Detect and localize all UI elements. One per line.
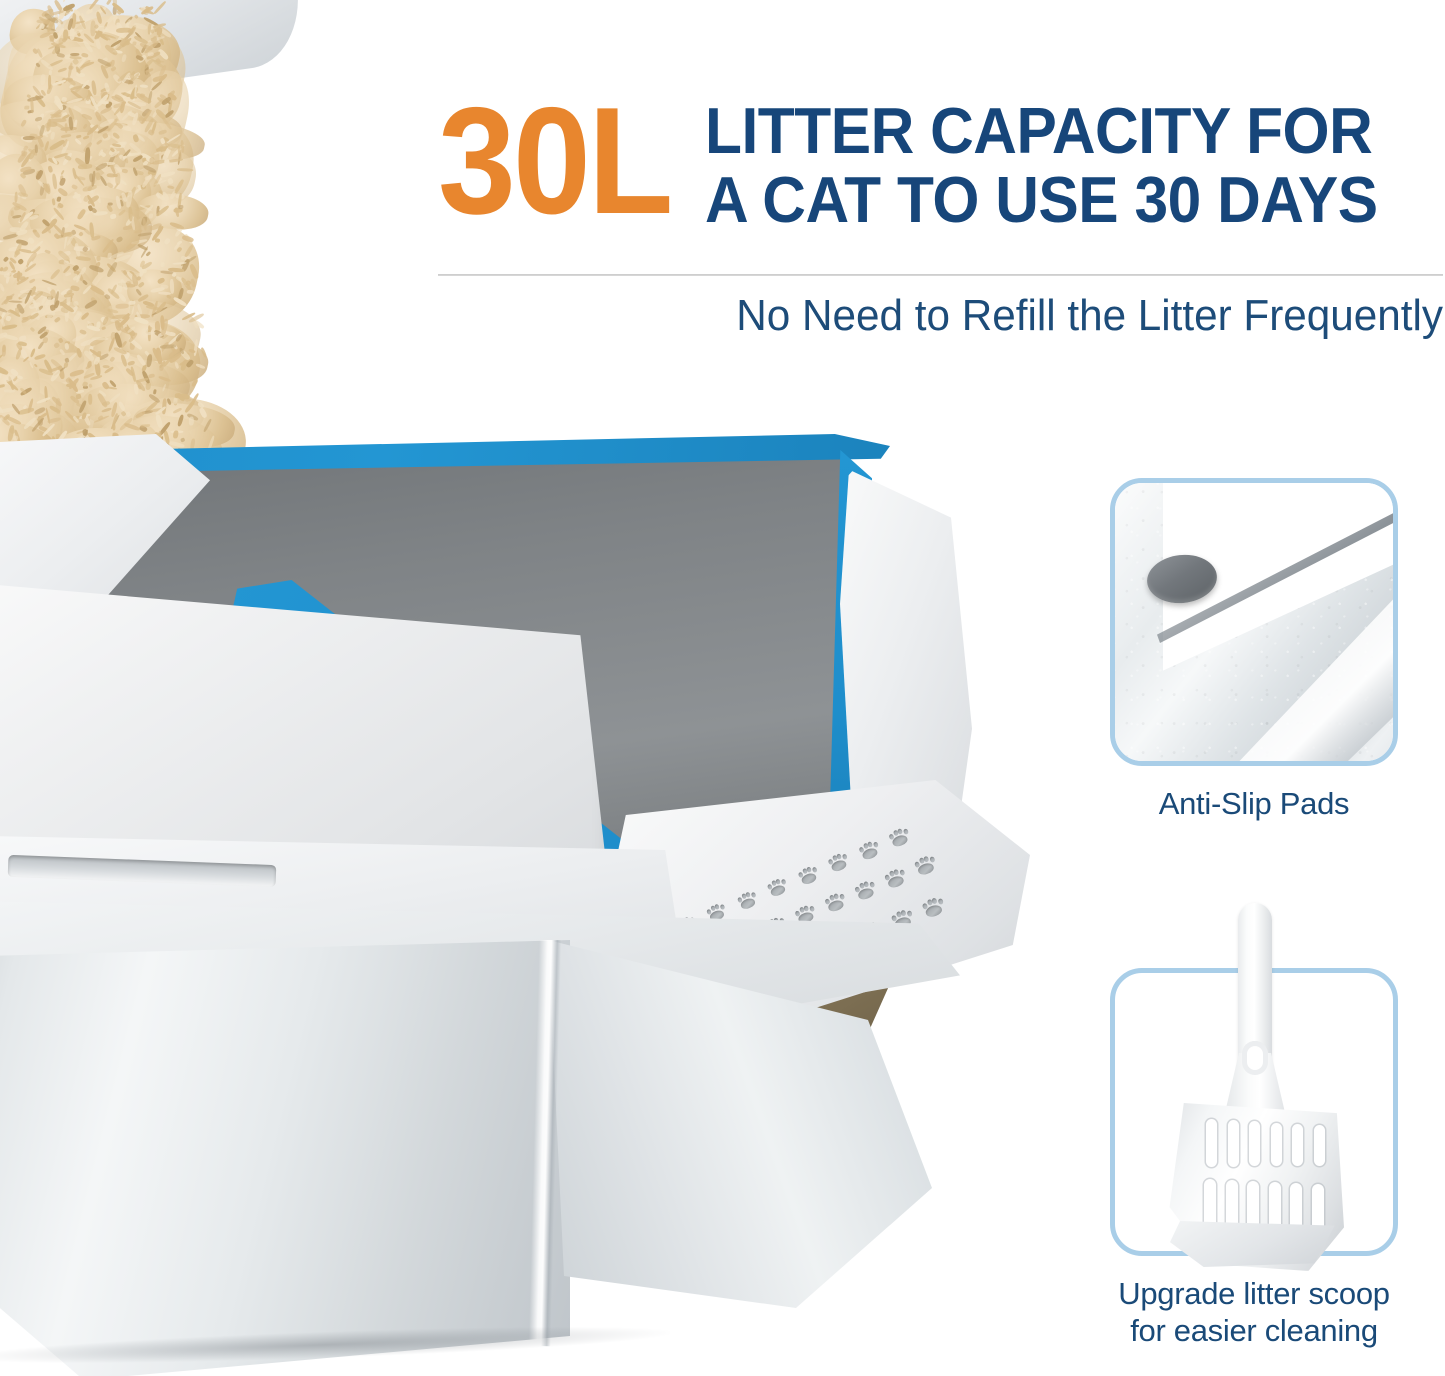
paw-toe [839,894,845,900]
litter-pellet [161,261,165,266]
callout-frame-anti-slip-pads [1110,478,1398,766]
callout-label-line-2: for easier cleaning [1110,1313,1398,1350]
callout-label-litter-scoop: Upgrade litter scoop for easier cleaning [1110,1276,1398,1349]
paw-print-hole [856,839,881,862]
paw-toe [893,868,899,874]
paw-toe [806,866,812,872]
litter-pellet [177,168,193,172]
steel-side-face [548,940,940,1340]
anti-slip-pad-photo [1110,478,1398,766]
litter-pellet [30,98,34,113]
litter-pellet [96,256,100,262]
litter-pellet [64,342,69,350]
headline-block: 30L LITTER CAPACITY FOR A CAT TO USE 30 … [438,88,1443,278]
litter-pellet [116,27,131,33]
paw-toe [869,881,875,887]
scoop-slot [1271,1123,1282,1167]
headline-line-1: LITTER CAPACITY FOR [705,97,1378,166]
litter-scoop-illustration [1154,903,1354,1273]
paw-toe [937,898,943,904]
litter-pellet [78,164,92,169]
litter-pellet [144,327,148,333]
steel-front-face [0,940,570,1376]
paw-print-hole [823,891,848,914]
litter-pellet [76,393,82,399]
paw-toe [714,904,719,910]
headline-line-2: A CAT TO USE 30 DAYS [705,166,1378,235]
litter-pellet [72,300,78,306]
litter-pellet [115,303,129,308]
paw-print-hole [912,854,938,878]
paw-print-hole [735,889,759,911]
paw-toe [906,910,912,916]
paw-toe [803,905,809,911]
paw-toe [780,879,786,885]
paw-toe [867,841,873,847]
litter-pellet [85,147,91,164]
litter-pellet [151,37,157,41]
paw-toe [811,866,817,872]
paw-toe [921,903,927,909]
litter-pellet [24,105,29,109]
paw-print-hole [796,864,821,887]
paw-print-hole [853,879,879,903]
litter-pellet [23,317,29,320]
paw-toe [899,869,905,875]
paw-toe [931,898,937,904]
litter-pellet [150,157,155,164]
paw-print-hole [765,877,789,900]
paw-toe [929,857,935,863]
scoop-slot [1228,1120,1239,1167]
paw-toe [872,841,878,847]
paw-toe [841,854,847,860]
callout-label-line-1: Upgrade litter scoop [1110,1276,1398,1313]
scoop-slot [1249,1121,1260,1166]
product-feature-banner: 30L LITTER CAPACITY FOR A CAT TO USE 30 … [0,0,1445,1376]
paw-toe [719,904,724,910]
paw-toe [809,906,815,912]
callout-anti-slip-pads: Anti-Slip Pads [1110,478,1398,823]
litter-pellet [139,84,147,88]
paw-print-hole [887,826,913,850]
paw-toe [833,893,839,899]
litter-pellet [47,74,51,89]
paw-toe [923,856,929,862]
headline-text: LITTER CAPACITY FOR A CAT TO USE 30 DAYS [705,88,1428,235]
scoop-slot [1314,1125,1325,1166]
litter-pellet [49,71,52,76]
headline-divider [438,274,1443,276]
scoop-front-lip [1170,1221,1338,1267]
paw-toe [750,891,755,897]
litter-pellet [88,393,92,405]
paw-toe [863,881,869,887]
litter-pellet [63,0,70,3]
litter-pellet [10,210,14,216]
callout-label-anti-slip-pads: Anti-Slip Pads [1110,786,1398,823]
paw-toe [836,853,842,859]
paw-toe [775,879,781,885]
litter-pellet [70,53,79,56]
litter-pellet [34,144,38,153]
litter-pellet [178,205,183,209]
scoop-slot [1206,1119,1217,1167]
scoop-hang-hole [1242,1041,1268,1075]
paw-print-hole [920,896,947,920]
callout-frame-litter-scoop [1110,968,1398,1256]
capacity-number: 30L [438,88,671,232]
paw-toe [902,828,908,834]
paw-toe [745,891,750,897]
paw-toe [900,910,906,916]
paw-print-hole [882,867,908,891]
litter-pellet [3,389,14,392]
litter-pellet [147,51,154,56]
paw-toe [897,828,903,834]
scoop-slot [1292,1124,1303,1166]
callout-litter-scoop: Upgrade litter scoop for easier cleaning [1110,968,1398,1349]
headline-subtitle: No Need to Refill the Litter Frequently [478,291,1443,341]
paw-print-hole [826,851,851,874]
stainless-steel-basin [0,940,940,1376]
